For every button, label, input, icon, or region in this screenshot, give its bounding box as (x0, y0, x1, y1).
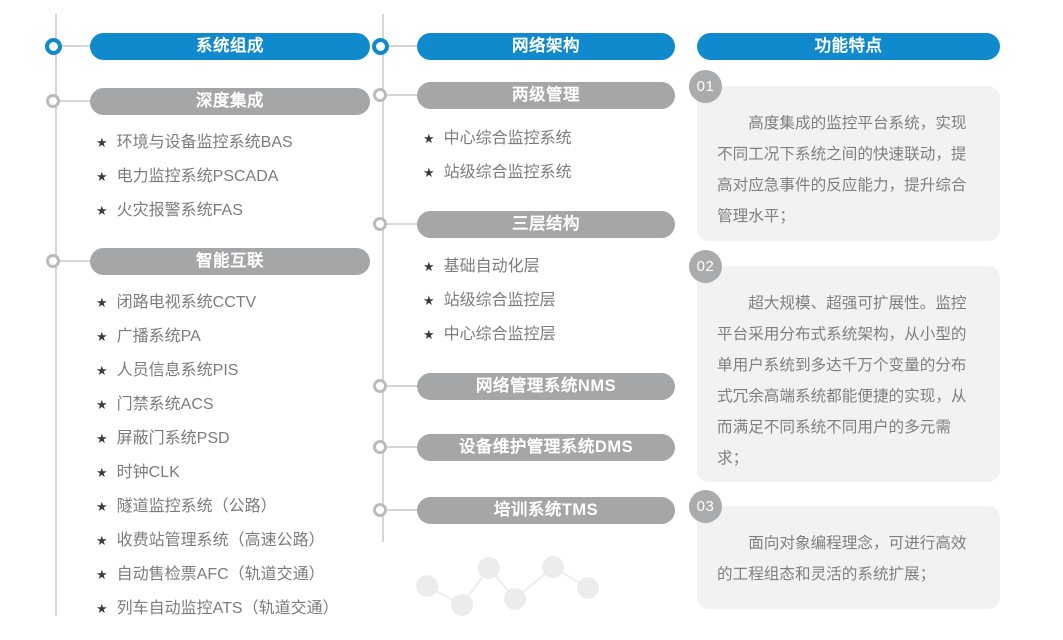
list-item[interactable]: ★ 人员信息系统PIS (96, 356, 339, 390)
timeline-connector-nms (387, 385, 419, 387)
section-header-system-composition[interactable]: 系统组成 (90, 33, 370, 60)
section-header-network-architecture[interactable]: 网络架构 (417, 33, 675, 60)
star-bullet-icon: ★ (96, 568, 108, 581)
timeline-connector-smart-interconnect (60, 260, 92, 262)
timeline-node-three-layer-structure[interactable] (373, 217, 387, 231)
network-nodes-graphic (397, 545, 647, 635)
list-item[interactable]: ★ 中心综合监控系统 (423, 124, 572, 158)
group-title-dms[interactable]: 设备维护管理系统DMS (417, 434, 675, 461)
star-bullet-icon: ★ (96, 136, 108, 149)
list-item[interactable]: ★ 站级综合监控系统 (423, 158, 572, 192)
list-item[interactable]: ★ 时钟CLK (96, 458, 339, 492)
list-item[interactable]: ★ 基础自动化层 (423, 252, 556, 286)
star-bullet-icon: ★ (423, 260, 435, 273)
timeline-connector-network-header (387, 45, 419, 47)
list-item[interactable]: ★ 环境与设备监控系统BAS (96, 128, 293, 162)
timeline-node-smart-interconnect[interactable] (46, 254, 60, 268)
timeline-node-systems-header[interactable] (45, 38, 62, 55)
timeline-node-nms[interactable] (373, 379, 387, 393)
list-item[interactable]: ★ 自动售检票AFC（轨道交通） (96, 560, 339, 594)
bullet-list-two-level-management: ★ 中心综合监控系统 ★ 站级综合监控系统 (423, 124, 572, 192)
star-bullet-icon: ★ (96, 364, 108, 377)
timeline-node-deep-integration[interactable] (46, 94, 60, 108)
group-title-smart-interconnect[interactable]: 智能互联 (90, 248, 370, 275)
group-title-three-layer-structure[interactable]: 三层结构 (417, 211, 675, 238)
timeline-node-network-header[interactable] (372, 38, 389, 55)
star-bullet-icon: ★ (96, 170, 108, 183)
feature-card-text: 超大规模、超强可扩展性。监控平台采用分布式系统架构，从小型的单用户系统到多达千万… (717, 288, 980, 474)
column-feature-highlights: 功能特点 01 高度集成的监控平台系统，实现不同工况下系统之间的快速联动，提高对… (690, 0, 1010, 640)
feature-card-text: 高度集成的监控平台系统，实现不同工况下系统之间的快速联动，提高对应急事件的反应能… (717, 108, 980, 232)
group-title-nms[interactable]: 网络管理系统NMS (417, 373, 675, 400)
star-bullet-icon: ★ (96, 398, 108, 411)
bullet-list-three-layer-structure: ★ 基础自动化层 ★ 站级综合监控层 ★ 中心综合监控层 (423, 252, 556, 354)
star-bullet-icon: ★ (96, 432, 108, 445)
feature-card-text: 面向对象编程理念，可进行高效的工程组态和灵活的系统扩展； (717, 528, 980, 590)
feature-card-number-badge: 03 (689, 490, 722, 523)
timeline-connector-systems-header (60, 45, 92, 47)
star-bullet-icon: ★ (96, 330, 108, 343)
timeline-connector-tms (387, 509, 419, 511)
group-title-deep-integration[interactable]: 深度集成 (90, 88, 370, 115)
list-item[interactable]: ★ 门禁系统ACS (96, 390, 339, 424)
list-item[interactable]: ★ 屏蔽门系统PSD (96, 424, 339, 458)
feature-card-01[interactable]: 01 高度集成的监控平台系统，实现不同工况下系统之间的快速联动，提高对应急事件的… (697, 86, 1000, 241)
list-item[interactable]: ★ 闭路电视系统CCTV (96, 288, 339, 322)
list-item[interactable]: ★ 广播系统PA (96, 322, 339, 356)
star-bullet-icon: ★ (423, 132, 435, 145)
feature-card-number-badge: 01 (689, 70, 722, 103)
feature-card-number-badge: 02 (689, 250, 722, 283)
section-header-feature-highlights[interactable]: 功能特点 (697, 33, 1000, 60)
timeline-connector-three-layer-structure (387, 223, 419, 225)
bullet-list-smart-interconnect: ★ 闭路电视系统CCTV ★ 广播系统PA ★ 人员信息系统PIS ★ 门禁系统… (96, 288, 339, 628)
star-bullet-icon: ★ (96, 466, 108, 479)
group-title-tms[interactable]: 培训系统TMS (417, 497, 675, 524)
timeline-connector-dms (387, 446, 419, 448)
list-item[interactable]: ★ 隧道监控系统（公路） (96, 492, 339, 526)
bullet-list-deep-integration: ★ 环境与设备监控系统BAS ★ 电力监控系统PSCADA ★ 火灾报警系统FA… (96, 128, 293, 230)
star-bullet-icon: ★ (423, 328, 435, 341)
feature-card-02[interactable]: 02 超大规模、超强可扩展性。监控平台采用分布式系统架构，从小型的单用户系统到多… (697, 266, 1000, 482)
timeline-node-tms[interactable] (373, 503, 387, 517)
feature-card-03[interactable]: 03 面向对象编程理念，可进行高效的工程组态和灵活的系统扩展； (697, 506, 1000, 609)
star-bullet-icon: ★ (96, 296, 108, 309)
star-bullet-icon: ★ (96, 602, 108, 615)
list-item[interactable]: ★ 电力监控系统PSCADA (96, 162, 293, 196)
timeline-node-dms[interactable] (373, 440, 387, 454)
column-system-composition: 系统组成 深度集成 ★ 环境与设备监控系统BAS ★ 电力监控系统PSCADA … (40, 0, 360, 640)
timeline-connector-two-level-management (387, 94, 419, 96)
column-network-architecture: 网络架构 两级管理 ★ 中心综合监控系统 ★ 站级综合监控系统 三层结构 ★ 基… (367, 0, 667, 640)
timeline-node-two-level-management[interactable] (373, 88, 387, 102)
star-bullet-icon: ★ (423, 294, 435, 307)
list-item[interactable]: ★ 收费站管理系统（高速公路） (96, 526, 339, 560)
list-item[interactable]: ★ 火灾报警系统FAS (96, 196, 293, 230)
list-item[interactable]: ★ 站级综合监控层 (423, 286, 556, 320)
star-bullet-icon: ★ (96, 204, 108, 217)
group-title-two-level-management[interactable]: 两级管理 (417, 82, 675, 109)
list-item[interactable]: ★ 中心综合监控层 (423, 320, 556, 354)
star-bullet-icon: ★ (96, 534, 108, 547)
star-bullet-icon: ★ (96, 500, 108, 513)
timeline-connector-deep-integration (60, 100, 92, 102)
star-bullet-icon: ★ (423, 166, 435, 179)
list-item[interactable]: ★ 列车自动监控ATS（轨道交通） (96, 594, 339, 628)
